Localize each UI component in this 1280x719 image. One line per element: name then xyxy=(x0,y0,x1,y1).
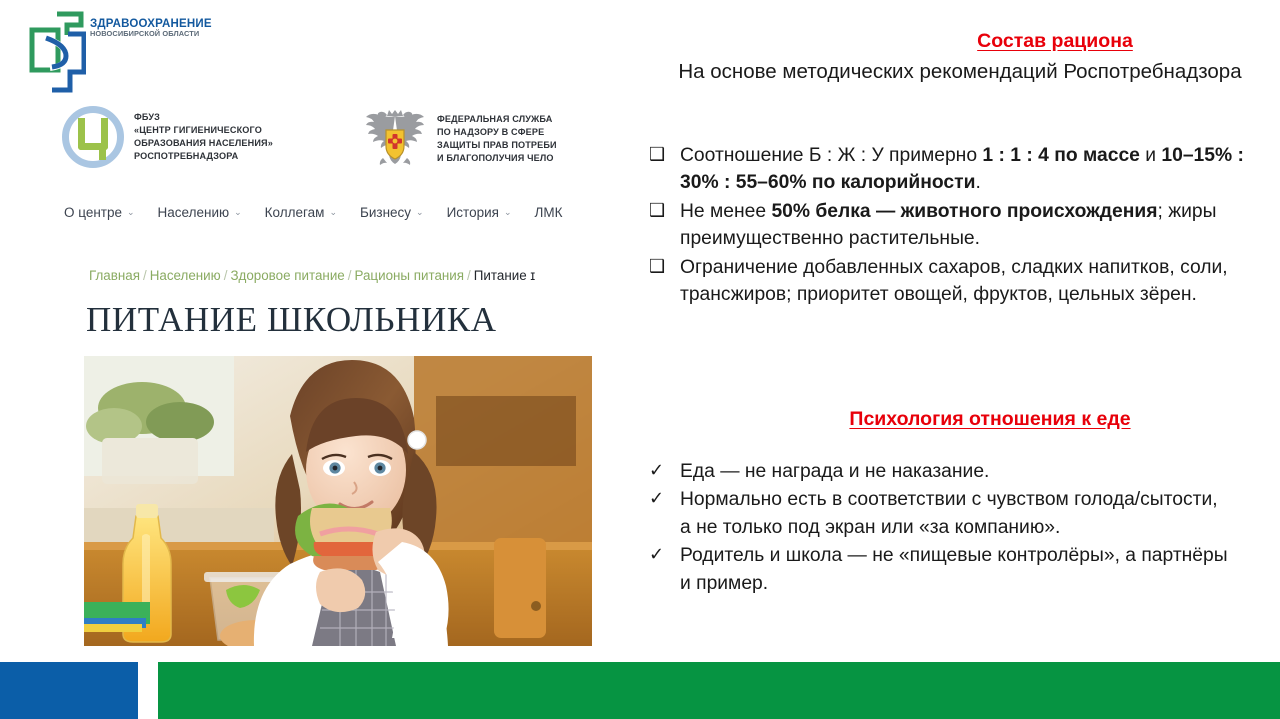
fbuz-logo-line-4: РОСПОТРЕБНАДЗОРА xyxy=(134,150,273,163)
breadcrumb-separator: / xyxy=(348,268,352,283)
nav-item-3[interactable]: Коллегам⌄ xyxy=(265,205,337,220)
rpn-logo-line-3: ЗАЩИТЫ ПРАВ ПОТРЕБИ xyxy=(437,139,557,152)
breadcrumb-item-1[interactable]: Главная xyxy=(89,268,140,283)
fbuz-logo-line-3: ОБРАЗОВАНИЯ НАСЕЛЕНИЯ» xyxy=(134,137,273,150)
psychology-bullet-3: ✓Родитель и школа — не «пищевые контролё… xyxy=(648,542,1228,597)
page-title: ПИТАНИЕ ШКОЛЬНИКА xyxy=(86,300,497,340)
checkmark-bullet-icon: ✓ xyxy=(649,542,664,568)
nav-item-label: История xyxy=(447,205,499,220)
chevron-down-icon: ⌄ xyxy=(127,208,135,217)
region-health-logo-text: ЗДРАВООХРАНЕНИЕ НОВОСИБИРСКОЙ ОБЛАСТИ xyxy=(90,18,212,38)
rpn-logo-line-2: ПО НАДЗОРУ В СФЕРЕ xyxy=(437,126,557,139)
checkmark-bullet-icon: ✓ xyxy=(649,486,664,512)
psychology-bullet-2: ✓Нормально есть в соответствии с чувство… xyxy=(648,486,1228,541)
breadcrumb-item-2[interactable]: Населению xyxy=(150,268,221,283)
chevron-down-icon: ⌄ xyxy=(504,208,512,217)
green-accent-bar xyxy=(158,662,1280,719)
nav-item-1[interactable]: О центре⌄ xyxy=(64,205,135,220)
nav-item-2[interactable]: Населению⌄ xyxy=(158,205,242,220)
psychology-bullet-1: ✓Еда — не награда и не наказание. xyxy=(648,458,1228,485)
partner-logos-row: ФБУЗ «ЦЕНТР ГИГИЕНИЧЕСКОГО ОБРАЗОВАНИЯ Н… xyxy=(62,106,607,190)
ration-bullet-1: ❑Соотношение Б : Ж : У примерно 1 : 1 : … xyxy=(648,142,1280,197)
region-health-logo-mark xyxy=(24,8,86,94)
nav-item-label: О центре xyxy=(64,205,122,220)
nav-item-label: Бизнесу xyxy=(360,205,411,220)
chevron-down-icon: ⌄ xyxy=(329,208,337,217)
fbuz-logo: ФБУЗ «ЦЕНТР ГИГИЕНИЧЕСКОГО ОБРАЗОВАНИЯ Н… xyxy=(62,106,273,168)
nav-item-label: Населению xyxy=(158,205,230,220)
checkbox-bullet-icon: ❑ xyxy=(649,254,665,280)
ration-bullet-2: ❑Не менее 50% белка — животного происхож… xyxy=(648,198,1280,253)
checkmark-bullet-icon: ✓ xyxy=(649,458,664,484)
fbuz-logo-line-2: «ЦЕНТР ГИГИЕНИЧЕСКОГО xyxy=(134,124,273,137)
nav-item-label: Коллегам xyxy=(265,205,325,220)
rpn-logo-line-4: И БЛАГОПОЛУЧИЯ ЧЕЛО xyxy=(437,152,557,165)
site-main-nav[interactable]: О центре⌄Населению⌄Коллегам⌄Бизнесу⌄Исто… xyxy=(64,205,562,220)
nav-item-4[interactable]: Бизнесу⌄ xyxy=(360,205,424,220)
nav-item-5[interactable]: История⌄ xyxy=(447,205,512,220)
breadcrumb-separator: / xyxy=(224,268,228,283)
section-heading-ration: Состав рациона xyxy=(890,30,1220,53)
ration-bullet-3: ❑Ограничение добавленных сахаров, сладки… xyxy=(648,254,1280,309)
slide-text-column: Состав рациона На основе методических ре… xyxy=(640,0,1280,660)
breadcrumb-separator: / xyxy=(143,268,147,283)
hero-photo-illustration xyxy=(84,356,592,646)
breadcrumb-separator: / xyxy=(467,268,471,283)
chevron-down-icon: ⌄ xyxy=(416,208,424,217)
nav-item-label: ЛМК xyxy=(535,205,563,220)
book-stack xyxy=(84,602,150,632)
chevron-down-icon: ⌄ xyxy=(234,208,242,217)
double-headed-eagle-icon xyxy=(365,106,425,172)
breadcrumb-item-4[interactable]: Рационы питания xyxy=(354,268,464,283)
ration-bullet-list: ❑Соотношение Б : Ж : У примерно 1 : 1 : … xyxy=(648,142,1280,309)
psychology-bullet-text: Родитель и школа — не «пищевые контролёр… xyxy=(680,545,1228,593)
checkbox-bullet-icon: ❑ xyxy=(649,142,665,168)
region-health-logo-subtitle: НОВОСИБИРСКОЙ ОБЛАСТИ xyxy=(90,30,212,38)
fbuz-logo-text: ФБУЗ «ЦЕНТР ГИГИЕНИЧЕСКОГО ОБРАЗОВАНИЯ Н… xyxy=(134,111,273,163)
ration-bullet-text: Ограничение добавленных сахаров, сладких… xyxy=(680,257,1228,305)
ration-bullet-text: Соотношение Б : Ж : У примерно 1 : 1 : 4… xyxy=(680,145,1244,193)
rospotrebnadzor-logo-text: ФЕДЕРАЛЬНАЯ СЛУЖБА ПО НАДЗОРУ В СФЕРЕ ЗА… xyxy=(437,113,557,165)
psychology-bullet-text: Еда — не награда и не наказание. xyxy=(680,461,989,482)
ration-bullet-text: Не менее 50% белка — животного происхожд… xyxy=(680,201,1216,249)
fbuz-logo-line-1: ФБУЗ xyxy=(134,111,273,124)
nav-item-6[interactable]: ЛМК xyxy=(535,205,563,220)
blue-accent-bar xyxy=(0,662,138,719)
hero-photo xyxy=(84,356,592,646)
rospotrebnadzor-logo: ФЕДЕРАЛЬНАЯ СЛУЖБА ПО НАДЗОРУ В СФЕРЕ ЗА… xyxy=(365,106,557,172)
region-health-logo: ЗДРАВООХРАНЕНИЕ НОВОСИБИРСКОЙ ОБЛАСТИ xyxy=(24,8,220,96)
rpn-logo-line-1: ФЕДЕРАЛЬНАЯ СЛУЖБА xyxy=(437,113,557,126)
section-heading-psychology: Психология отношения к еде xyxy=(700,408,1280,431)
fbuz-logo-icon xyxy=(62,106,124,168)
breadcrumb[interactable]: Главная/Населению/Здоровое питание/Рацио… xyxy=(89,268,625,283)
section-lead-ration: На основе методических рекомендаций Росп… xyxy=(660,58,1260,86)
embedded-website-screenshot: ЗДРАВООХРАНЕНИЕ НОВОСИБИРСКОЙ ОБЛАСТИ ФБ… xyxy=(0,0,625,660)
psychology-bullet-list: ✓Еда — не награда и не наказание.✓Нормал… xyxy=(648,458,1228,598)
breadcrumb-item-3[interactable]: Здоровое питание xyxy=(230,268,344,283)
psychology-bullet-text: Нормально есть в соответствии с чувством… xyxy=(680,489,1218,537)
checkbox-bullet-icon: ❑ xyxy=(649,198,665,224)
breadcrumb-current: Питание ɪ xyxy=(474,268,535,283)
